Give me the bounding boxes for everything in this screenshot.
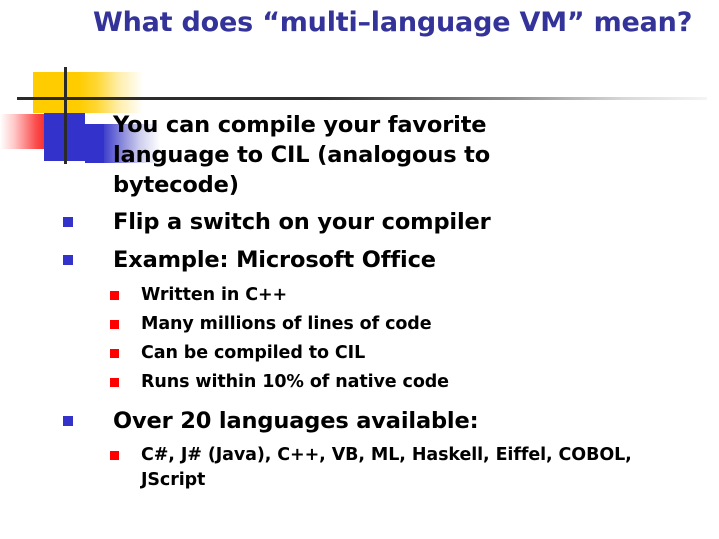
- red-square-bullet-icon: [110, 320, 119, 329]
- bullet-list: You can compile your favorite language t…: [0, 110, 719, 497]
- red-square-bullet-icon: [110, 451, 119, 460]
- list-item: Flip a switch on your compiler: [0, 207, 719, 237]
- list-item: Runs within 10% of native code: [0, 370, 719, 395]
- list-item-label: You can compile your favorite language t…: [113, 110, 719, 200]
- yellow-square-shape: [33, 72, 79, 113]
- list-item: Written in C++: [0, 283, 719, 308]
- red-square-bullet-icon: [110, 291, 119, 300]
- list-item: Can be compiled to CIL: [0, 341, 719, 366]
- list-item-label: Over 20 languages available:: [113, 406, 719, 436]
- list-item-label: C#, J# (Java), C++, VB, ML, Haskell, Eif…: [141, 443, 719, 493]
- list-item: Many millions of lines of code: [0, 312, 719, 337]
- yellow-gradient-shape: [79, 72, 143, 113]
- blue-square-bullet-icon: [63, 416, 73, 426]
- list-item: Example: Microsoft Office: [0, 245, 719, 275]
- list-item-label: Flip a switch on your compiler: [113, 207, 719, 237]
- presentation-slide: What does “multi–language VM” mean? You …: [0, 0, 719, 539]
- red-square-bullet-icon: [110, 378, 119, 387]
- red-square-bullet-icon: [110, 349, 119, 358]
- title-block: What does “multi–language VM” mean?: [93, 6, 693, 40]
- list-item-label: Runs within 10% of native code: [141, 370, 719, 395]
- blue-square-bullet-icon: [63, 255, 73, 265]
- list-item-label: Written in C++: [141, 283, 719, 308]
- list-item: Over 20 languages available:: [0, 406, 719, 436]
- list-item-label: Example: Microsoft Office: [113, 245, 719, 275]
- list-item-label: Can be compiled to CIL: [141, 341, 719, 366]
- list-item-label: Many millions of lines of code: [141, 312, 719, 337]
- page-title: What does “multi–language VM” mean?: [93, 6, 693, 40]
- horizontal-rule-line: [17, 97, 707, 100]
- blue-square-bullet-icon: [63, 217, 73, 227]
- list-item: C#, J# (Java), C++, VB, ML, Haskell, Eif…: [0, 443, 719, 493]
- list-item: You can compile your favorite language t…: [0, 110, 719, 200]
